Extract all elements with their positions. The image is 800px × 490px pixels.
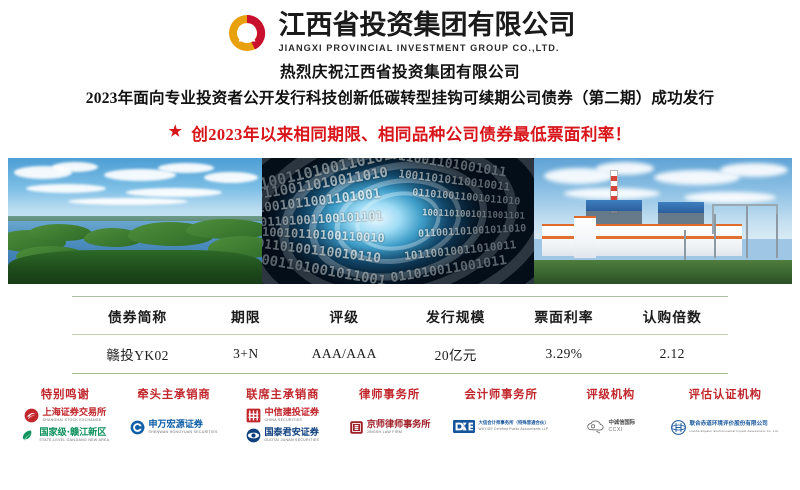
- logo-name-cn: 联合赤道环境评价股份有限公司: [689, 422, 778, 428]
- partner-group-title: 律师事务所: [359, 386, 420, 402]
- logo-name-cn: 京师律师事务所: [367, 420, 431, 429]
- cloud-shape: [158, 163, 214, 173]
- table-row: 赣投YK02 3+N AAA/AAA 20亿元 3.29% 2.12: [72, 334, 728, 373]
- partner-logo-list: 大信会计师事务所（特殊普通合伙） WUYIGE Certified Public…: [453, 408, 548, 433]
- logo-text: 大信会计师事务所（特殊普通合伙） WUYIGE Certified Public…: [478, 421, 548, 431]
- partner-group-assessment-agency: 评估认证机构 联合赤道环境评价股份有限公司 Lianhe Equator Env…: [660, 386, 790, 435]
- table-header-term: 期限: [203, 296, 288, 334]
- logo-name-cn: 申万宏源证券: [148, 420, 217, 429]
- logo-name-cn: 国泰君安证券: [264, 428, 319, 437]
- island-shape: [28, 224, 92, 241]
- logo-name-en: JINGSH LAW FIRM: [367, 431, 431, 435]
- poster-titles: 热烈庆祝江西省投资集团有限公司 2023年面向专业投资者公开发行科技创新低碳转型…: [0, 58, 800, 145]
- logo-name-cn: 中诚信国际: [609, 421, 635, 426]
- logo-name-en: SHANGHAI STOCK EXCHANGE: [42, 419, 106, 423]
- china-securities-logo: 中信建投证券 CHINA SECURITIES: [246, 408, 319, 423]
- partner-logo-list: 京师律师事务所 JINGSH LAW FIRM: [349, 408, 431, 435]
- partner-logo-list: 申万宏源证券 SHENWAN HONGYUAN SECURITIES: [130, 408, 217, 435]
- transmission-gantry: [712, 204, 778, 234]
- ccxi-cloud-icon: [587, 420, 606, 434]
- logo-name-en: CCXI: [609, 428, 635, 433]
- table-header-rating: 评级: [288, 296, 400, 334]
- company-logo-row: 江西省投资集团有限公司 JIANGXI PROVINCIAL INVESTMEN…: [225, 11, 576, 55]
- partner-logo-list: 联合赤道环境评价股份有限公司 Lianhe Equator Environmen…: [671, 408, 778, 435]
- ganjiang-new-area-logo: 国家级·赣江新区 STATE-LEVEL GANJIANG NEW AREA: [21, 428, 109, 443]
- lake-islands-photo: [8, 158, 262, 284]
- cloud-shape: [26, 184, 106, 193]
- partner-group-title: 联席主承销商: [246, 386, 319, 402]
- partner-group-special-thanks: 特别鸣谢 上海证券交易所 SHANGHAI STOCK EXCHANGE: [10, 386, 121, 443]
- partner-group-joint-underwriter: 联席主承销商 中信建投证券 CHINA SECURITIES: [227, 386, 338, 443]
- wuyige-dxa-icon: [453, 420, 475, 433]
- foreground-trees: [8, 250, 262, 284]
- logo-text: 国泰君安证券 GUOTAI JUNAN SECURITIES: [264, 428, 319, 442]
- logo-name-cn: 大信会计师事务所（特殊普通合伙）: [478, 421, 548, 427]
- shanghai-stock-exchange-logo: 上海证券交易所 SHANGHAI STOCK EXCHANGE: [24, 408, 106, 423]
- company-logo-text: 江西省投资集团有限公司 JIANGXI PROVINCIAL INVESTMEN…: [279, 12, 576, 53]
- partner-group-title: 评级机构: [586, 386, 635, 402]
- plant-roof: [658, 202, 704, 213]
- partner-group-title: 牵头主承销商: [137, 386, 210, 402]
- logo-text: 联合赤道环境评价股份有限公司 Lianhe Equator Environmen…: [689, 422, 778, 432]
- partner-group-accounting-firm: 会计师事务所 大信会计师事务所（特殊普通合伙） WUYIGE Certified…: [441, 386, 561, 433]
- cloud-shape: [68, 198, 188, 205]
- wuyige-cpa-logo: 大信会计师事务所（特殊普通合伙） WUYIGE Certified Public…: [453, 420, 548, 433]
- plant-ground: [534, 260, 792, 284]
- logo-text: 京师律师事务所 JINGSH LAW FIRM: [367, 420, 431, 434]
- title-line-2: 2023年面向专业投资者公开发行科技创新低碳转型挂钩可续期公司债券（第二期）成功…: [0, 88, 800, 110]
- jiangxi-investment-group-logo-icon: [225, 11, 269, 55]
- logo-text: 申万宏源证券 SHENWAN HONGYUAN SECURITIES: [148, 420, 217, 434]
- plant-roof: [586, 200, 642, 211]
- partner-logo-list: 中诚信国际 CCXI: [587, 408, 635, 434]
- partner-group-title: 会计师事务所: [465, 386, 538, 402]
- partner-logo-list: 中信建投证券 CHINA SECURITIES 国泰君安证券 GUOTAI JU…: [246, 408, 319, 443]
- partner-group-law-firm: 律师事务所 京师律师事务所 JINGSH LAW FIRM: [338, 386, 441, 435]
- logo-name-en: STATE-LEVEL GANJIANG NEW AREA: [39, 439, 109, 443]
- cell-bond-name: 赣投YK02: [72, 334, 203, 373]
- partner-group-rating-agency: 评级机构 中诚信国际 CCXI: [561, 386, 660, 434]
- logo-text: 国家级·赣江新区 STATE-LEVEL GANJIANG NEW AREA: [39, 428, 109, 442]
- power-plant-photo: [534, 158, 792, 284]
- cell-size: 20亿元: [400, 334, 512, 373]
- table-header-coupon: 票面利率: [511, 296, 616, 334]
- guotai-junan-securities-logo: 国泰君安证券 GUOTAI JUNAN SECURITIES: [246, 428, 319, 443]
- partner-group-title: 特别鸣谢: [41, 386, 90, 402]
- logo-name-en: CHINA SECURITIES: [264, 419, 319, 423]
- logo-text: 中信建投证券 CHINA SECURITIES: [264, 408, 319, 422]
- ganjiang-leaf-icon: [21, 428, 36, 443]
- logo-name-en: SHENWAN HONGYUAN SECURITIES: [148, 431, 217, 435]
- shenwan-hongyuan-securities-logo: 申万宏源证券 SHENWAN HONGYUAN SECURITIES: [130, 420, 217, 435]
- guotai-junan-eye-icon: [246, 428, 261, 443]
- cloud-shape: [204, 172, 258, 183]
- tower-leg: [714, 214, 716, 258]
- table-header-row: 债券简称 期限 评级 发行规模 票面利率 认购倍数: [72, 296, 728, 334]
- bond-issuance-poster: 江西省投资集团有限公司 JIANGXI PROVINCIAL INVESTMEN…: [0, 0, 800, 490]
- logo-name-en: WUYIGE Certified Public Accountants LLP: [478, 428, 548, 431]
- table-header-bond-name: 债券简称: [72, 296, 203, 334]
- cell-subscription: 2.12: [616, 334, 728, 373]
- lianhe-equator-logo: 联合赤道环境评价股份有限公司 Lianhe Equator Environmen…: [671, 420, 778, 435]
- ccxi-logo: 中诚信国际 CCXI: [587, 420, 635, 434]
- logo-name-cn: 上海证券交易所: [42, 408, 106, 417]
- plant-stripe: [542, 236, 742, 239]
- tower-leg: [746, 206, 748, 258]
- poster-header: 江西省投资集团有限公司 JIANGXI PROVINCIAL INVESTMEN…: [0, 0, 800, 58]
- partners-section: 特别鸣谢 上海证券交易所 SHANGHAI STOCK EXCHANGE: [10, 386, 790, 490]
- shenwan-ring-icon: [130, 420, 145, 435]
- logo-name-en: GUOTAI JUNAN SECURITIES: [264, 439, 319, 443]
- logo-name-cn: 中信建投证券: [264, 408, 319, 417]
- cloud-shape: [52, 162, 98, 172]
- title-line-1: 热烈庆祝江西省投资集团有限公司: [0, 62, 800, 84]
- partner-group-lead-underwriter: 牵头主承销商 申万宏源证券 SHENWAN HONGYUAN SECURITIE…: [121, 386, 228, 435]
- cell-term: 3+N: [203, 334, 288, 373]
- logo-text: 中诚信国际 CCXI: [609, 421, 635, 433]
- photo-strip: 100110100110101 1011001101001011 0110011…: [8, 158, 792, 284]
- bond-summary-table: 债券简称 期限 评级 发行规模 票面利率 认购倍数 赣投YK02 3+N AAA…: [72, 296, 728, 374]
- table-header-size: 发行规模: [400, 296, 512, 334]
- logo-name-en: Lianhe Equator Environmental Impact Asse…: [689, 430, 778, 433]
- cell-coupon: 3.29%: [511, 334, 616, 373]
- binary-data-tunnel-photo: 100110100110101 1011001101001011 0110011…: [262, 158, 534, 284]
- jingsh-law-firm-logo: 京师律师事务所 JINGSH LAW FIRM: [349, 420, 431, 435]
- cloud-shape: [126, 188, 222, 197]
- table-header-subscription: 认购倍数: [616, 296, 728, 334]
- lianhe-globe-icon: [671, 420, 686, 435]
- highlight-text: 创2023年以来相同期限、相同品种公司债券最低票面利率！: [191, 121, 631, 145]
- logo-text: 上海证券交易所 SHANGHAI STOCK EXCHANGE: [42, 408, 106, 422]
- sse-swirl-icon: [24, 408, 39, 423]
- company-name-cn: 江西省投资集团有限公司: [279, 12, 576, 40]
- tower-leg: [776, 214, 778, 258]
- citic-building-icon: [246, 408, 261, 423]
- partner-group-title: 评估认证机构: [689, 386, 762, 402]
- cell-rating: AAA/AAA: [288, 334, 400, 373]
- jingsh-seal-icon: [349, 420, 364, 435]
- plant-tower-block: [574, 216, 596, 258]
- partner-logo-list: 上海证券交易所 SHANGHAI STOCK EXCHANGE 国家级·赣江新区…: [21, 408, 109, 443]
- company-name-en: JIANGXI PROVINCIAL INVESTMENT GROUP CO.,…: [279, 43, 576, 54]
- light-pole: [684, 230, 686, 260]
- logo-name-cn: 国家级·赣江新区: [39, 428, 109, 437]
- cloud-shape: [596, 162, 654, 175]
- tunnel-vignette: [262, 158, 534, 284]
- highlight-banner: ★ 创2023年以来相同期限、相同品种公司债券最低票面利率！: [0, 121, 800, 145]
- cloud-shape: [720, 163, 788, 177]
- star-icon: ★: [168, 125, 182, 140]
- bond-summary-table-wrap: 债券简称 期限 评级 发行规模 票面利率 认购倍数 赣投YK02 3+N AAA…: [72, 296, 728, 374]
